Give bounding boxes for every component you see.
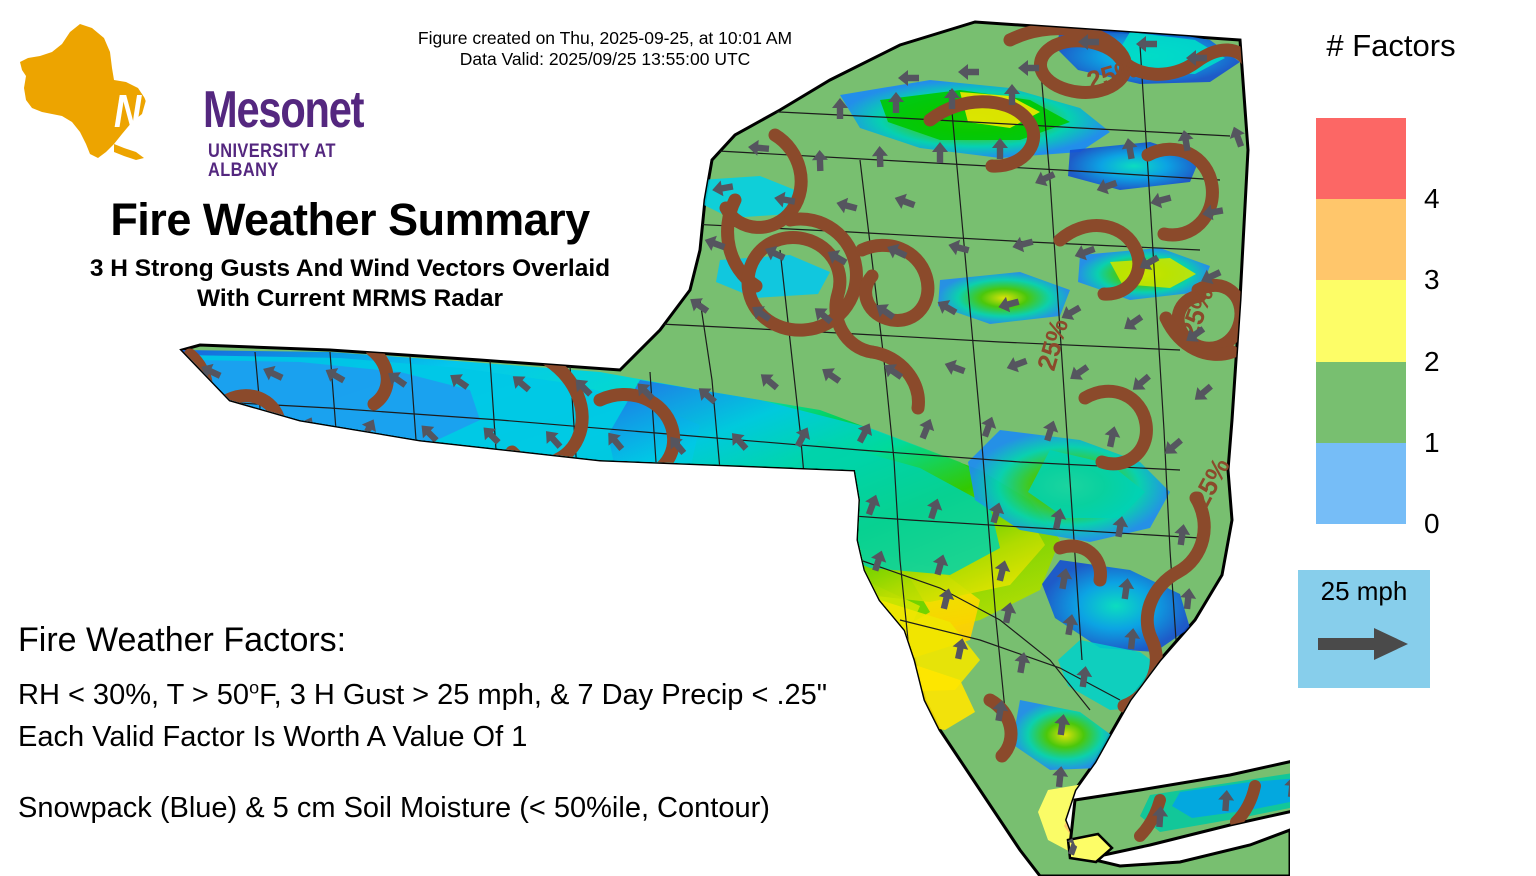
legend-tick-2: 2: [1424, 348, 1440, 376]
page-subtitle: 3 H Strong Gusts And Wind Vectors Overla…: [20, 254, 680, 314]
factors-value-note: Each Valid Factor Is Worth A Value Of 1: [18, 717, 918, 758]
legend-swatch-0-1: [1316, 443, 1406, 524]
degree-symbol: o: [249, 678, 259, 698]
nys-mesonet-logo: NYS Mesonet UNIVERSITY AT ALBANY: [18, 22, 398, 162]
factors-criteria-line: RH < 30%, T > 50oF, 3 H Gust > 25 mph, &…: [18, 675, 918, 716]
timestamp-block: Figure created on Thu, 2025-09-25, at 10…: [355, 28, 855, 69]
legend-swatch-4-: [1316, 118, 1406, 199]
page-title: Fire Weather Summary: [20, 196, 680, 243]
snowpack-soil-note: Snowpack (Blue) & 5 cm Soil Moisture (< …: [18, 788, 918, 829]
legend-tick-labels: 43210: [1414, 118, 1474, 524]
wind-scale-legend: 25 mph: [1298, 570, 1430, 688]
legend-tick-1: 1: [1424, 429, 1440, 457]
logo-nys-text: NYS: [114, 88, 189, 134]
legend-swatch-3-4: [1316, 199, 1406, 280]
figure-created-text: Figure created on Thu, 2025-09-25, at 10…: [355, 28, 855, 49]
logo-university-text: UNIVERSITY AT ALBANY: [208, 142, 371, 180]
legend-tick-0: 0: [1424, 510, 1440, 538]
data-valid-text: Data Valid: 2025/09/25 13:55:00 UTC: [355, 49, 855, 70]
factors-heading: Fire Weather Factors:: [18, 622, 918, 659]
criteria-pre-text: RH < 30%, T > 50: [18, 679, 249, 711]
legend-tick-3: 3: [1424, 266, 1440, 294]
subtitle-line-2: With Current MRMS Radar: [20, 284, 680, 314]
fire-weather-factors-block: Fire Weather Factors: RH < 30%, T > 50oF…: [18, 622, 918, 829]
legend-colorbar: [1316, 118, 1406, 524]
legend-tick-4: 4: [1424, 185, 1440, 213]
subtitle-line-1: 3 H Strong Gusts And Wind Vectors Overla…: [20, 254, 680, 284]
logo-mesonet-text: Mesonet: [203, 84, 363, 136]
factors-spacer: [18, 758, 918, 788]
wind-scale-label: 25 mph: [1298, 578, 1430, 604]
legend-swatch-1-2: [1316, 362, 1406, 443]
factors-colorbar-legend: # Factors 43210: [1296, 30, 1526, 550]
legend-title: # Factors: [1296, 30, 1486, 61]
wind-arrow-east-icon: [1316, 624, 1412, 664]
criteria-post-text: F, 3 H Gust > 25 mph, & 7 Day Precip < .…: [259, 679, 827, 711]
legend-swatch-2-3: [1316, 280, 1406, 361]
